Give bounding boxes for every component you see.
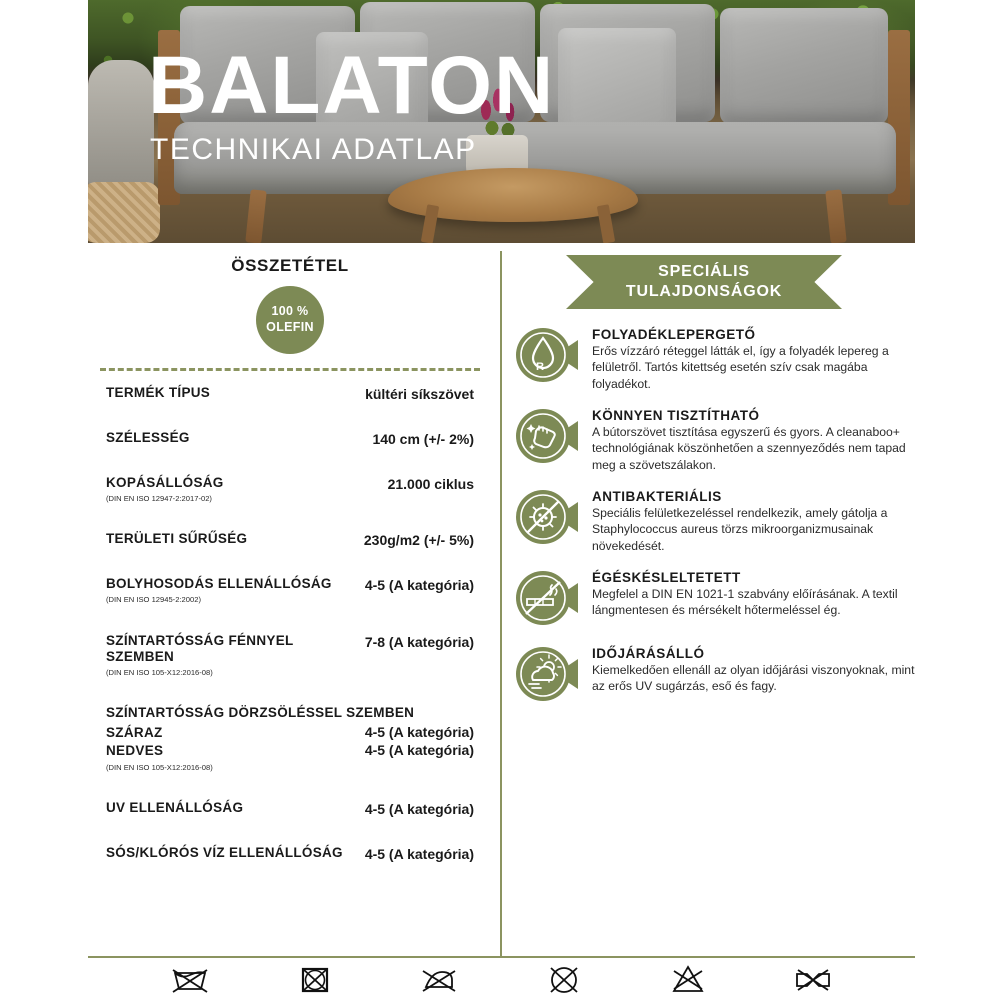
spec-label: TERMÉK TÍPUS <box>106 385 357 401</box>
list-item: KÖNNYEN TISZTÍTHATÓ A bútorszövet tisztí… <box>512 406 915 473</box>
weather-resistant-icon <box>512 644 580 706</box>
content-area: ÖSSZETÉTEL 100 % OLEFIN TERMÉK TÍPUS kül… <box>88 243 915 956</box>
svg-text:R: R <box>536 361 544 373</box>
spec-label: NEDVES <box>106 743 365 759</box>
spec-label: BOLYHOSODÁS ELLENÁLLÓSÁG (DIN EN ISO 129… <box>106 576 357 604</box>
list-item: ÉGÉSKÉSLELTETETT Megfelel a DIN EN 1021-… <box>512 568 915 630</box>
feature-text: ÉGÉSKÉSLELTETETT Megfelel a DIN EN 1021-… <box>592 568 915 619</box>
sofa-back-cushion <box>720 8 888 124</box>
composition-material: OLEFIN <box>266 320 314 336</box>
feature-text: KÖNNYEN TISZTÍTHATÓ A bútorszövet tisztí… <box>592 406 915 473</box>
water-repellent-icon: R <box>512 325 580 387</box>
spec-label: TERÜLETI SŰRŰSÉG <box>106 531 356 547</box>
spec-label-text: BOLYHOSODÁS ELLENÁLLÓSÁG <box>106 576 332 591</box>
table-row: BOLYHOSODÁS ELLENÁLLÓSÁG (DIN EN ISO 129… <box>106 562 474 618</box>
spec-value: 21.000 ciklus <box>388 475 474 492</box>
feature-description: Kiemelkedően ellenáll az olyan időjárási… <box>592 662 915 695</box>
sofa-leg <box>825 189 846 243</box>
spec-value: 4-5 (A kategória) <box>365 576 474 593</box>
spec-value: 4-5 (A kategória) <box>365 845 474 862</box>
composition-percent: 100 % <box>272 304 309 320</box>
list-item: ANTIBAKTERIÁLIS Speciális felületkezelés… <box>512 487 915 554</box>
sofa-leg <box>245 189 266 243</box>
care-symbols-row <box>88 958 915 1000</box>
specifications-column: ÖSSZETÉTEL 100 % OLEFIN TERMÉK TÍPUS kül… <box>88 243 492 876</box>
table-row: SZÍNTARTÓSSÁG FÉNNYEL SZEMBEN (DIN EN IS… <box>106 619 474 691</box>
banner-line-1: SPECIÁLIS <box>658 263 750 280</box>
do-not-wash-icon <box>169 961 211 997</box>
spec-label: SÓS/KLÓRÓS VÍZ ELLENÁLLÓSÁG <box>106 845 357 861</box>
spec-label: SZÁRAZ <box>106 725 365 741</box>
composition-heading: ÖSSZETÉTEL <box>88 256 492 276</box>
special-properties-column: SPECIÁLIS TULAJDONSÁGOK R FOLYADÉKLEP <box>512 243 915 720</box>
hero-banner: BALATON TECHNIKAI ADATLAP <box>88 0 915 243</box>
spec-standard: (DIN EN ISO 105-X12:2016-08) <box>106 668 357 677</box>
do-not-iron-icon <box>418 961 460 997</box>
rub-fastness-dry: SZÁRAZ 4-5 (A kategória) <box>106 723 474 741</box>
feature-list: R FOLYADÉKLEPERGETŐ Erős vízzáró rétegge… <box>512 325 915 706</box>
spec-value: 4-5 (A kategória) <box>365 741 474 758</box>
table-row: UV ELLENÁLLÓSÁG 4-5 (A kategória) <box>106 786 474 831</box>
feature-text: FOLYADÉKLEPERGETŐ Erős vízzáró réteggel … <box>592 325 915 392</box>
spec-value: 7-8 (A kategória) <box>365 633 474 650</box>
rub-fastness-heading: SZÍNTARTÓSSÁG DÖRZSÖLÉSSEL SZEMBEN <box>106 705 414 721</box>
spec-value: 4-5 (A kategória) <box>365 800 474 817</box>
feature-description: Speciális felületkezeléssel rendelkezik,… <box>592 505 915 554</box>
spec-label-text: KOPÁSÁLLÓSÁG <box>106 475 224 490</box>
easy-clean-icon <box>512 406 580 468</box>
special-properties-banner: SPECIÁLIS TULAJDONSÁGOK <box>566 255 842 309</box>
page-title: BALATON <box>148 48 555 123</box>
spec-value: 4-5 (A kategória) <box>365 723 474 740</box>
table-row: TERÜLETI SŰRŰSÉG 230g/m2 (+/- 5%) <box>106 517 474 562</box>
feature-title: ÉGÉSKÉSLELTETETT <box>592 570 915 585</box>
feature-description: Erős vízzáró réteggel látták el, így a f… <box>592 343 915 392</box>
spec-value: kültéri síkszövet <box>365 385 474 402</box>
do-not-bleach-icon <box>667 961 709 997</box>
table-row: SÓS/KLÓRÓS VÍZ ELLENÁLLÓSÁG 4-5 (A kateg… <box>106 831 474 876</box>
feature-description: Megfelel a DIN EN 1021-1 szabvány előírá… <box>592 586 915 619</box>
spec-standard: (DIN EN ISO 105-X12:2016-08) <box>106 763 213 772</box>
feature-title: IDŐJÁRÁSÁLLÓ <box>592 646 915 661</box>
spec-table: TERMÉK TÍPUS kültéri síkszövet SZÉLESSÉG… <box>88 371 492 876</box>
decorative-basket <box>88 182 160 243</box>
column-divider <box>500 251 502 956</box>
list-item: R FOLYADÉKLEPERGETŐ Erős vízzáró rétegge… <box>512 325 915 392</box>
spec-label: SZÉLESSÉG <box>106 430 364 446</box>
spec-label: UV ELLENÁLLÓSÁG <box>106 800 357 816</box>
feature-title: FOLYADÉKLEPERGETŐ <box>592 327 915 342</box>
table-row-rub-fastness: SZÍNTARTÓSSÁG DÖRZSÖLÉSSEL SZEMBEN SZÁRA… <box>106 691 474 786</box>
flame-retardant-icon <box>512 568 580 630</box>
do-not-wring-icon <box>792 961 834 997</box>
list-item: IDŐJÁRÁSÁLLÓ Kiemelkedően ellenáll az ol… <box>512 644 915 706</box>
feature-title: KÖNNYEN TISZTÍTHATÓ <box>592 408 915 423</box>
page-subtitle: TECHNIKAI ADATLAP <box>150 133 555 167</box>
spec-standard: (DIN EN ISO 12947-2:2017-02) <box>106 494 380 503</box>
rub-fastness-wet: NEDVES 4-5 (A kategória) <box>106 741 474 759</box>
antibacterial-icon <box>512 487 580 549</box>
feature-title: ANTIBAKTERIÁLIS <box>592 489 915 504</box>
do-not-dry-clean-icon <box>543 961 585 997</box>
hero-title-block: BALATON TECHNIKAI ADATLAP <box>148 48 555 167</box>
banner-line-2: TULAJDONSÁGOK <box>626 283 782 300</box>
spec-standard: (DIN EN ISO 12945-2:2002) <box>106 595 357 604</box>
feature-description: A bútorszövet tisztítása egyszerű és gyo… <box>592 424 915 473</box>
table-row: KOPÁSÁLLÓSÁG (DIN EN ISO 12947-2:2017-02… <box>106 461 474 517</box>
spec-value: 230g/m2 (+/- 5%) <box>364 531 474 548</box>
composition-badge: 100 % OLEFIN <box>256 286 324 354</box>
spec-label: SZÍNTARTÓSSÁG FÉNNYEL SZEMBEN (DIN EN IS… <box>106 633 357 677</box>
decorative-pot <box>88 60 154 195</box>
feature-text: IDŐJÁRÁSÁLLÓ Kiemelkedően ellenáll az ol… <box>592 644 915 695</box>
table-row: SZÉLESSÉG 140 cm (+/- 2%) <box>106 416 474 461</box>
spec-value: 140 cm (+/- 2%) <box>372 430 474 447</box>
do-not-tumble-dry-icon <box>294 961 336 997</box>
spec-label: KOPÁSÁLLÓSÁG (DIN EN ISO 12947-2:2017-02… <box>106 475 380 503</box>
feature-text: ANTIBAKTERIÁLIS Speciális felületkezelés… <box>592 487 915 554</box>
spec-label-text: SZÍNTARTÓSSÁG FÉNNYEL SZEMBEN <box>106 633 293 664</box>
table-row: TERMÉK TÍPUS kültéri síkszövet <box>106 371 474 416</box>
